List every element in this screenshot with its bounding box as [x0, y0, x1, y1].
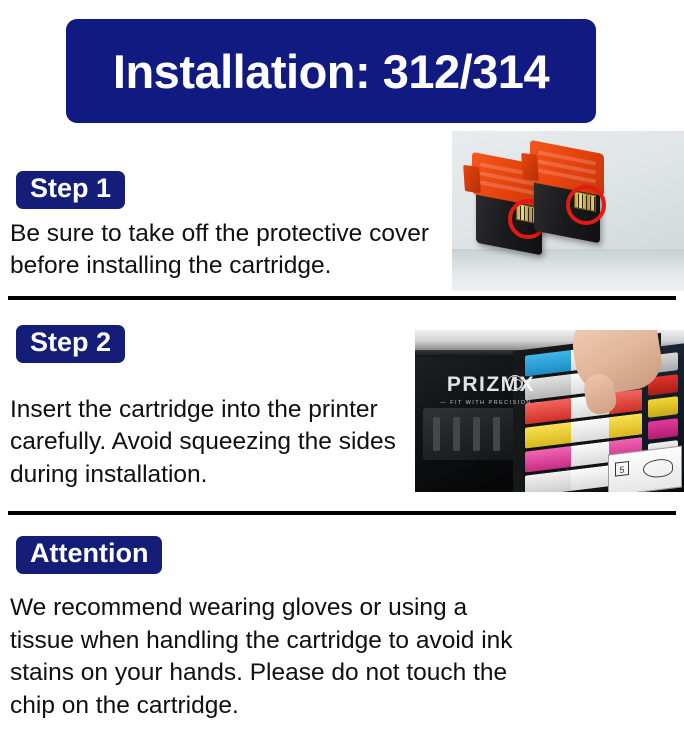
sheet-marker-number: 5 — [615, 461, 629, 477]
section-divider-2 — [8, 511, 676, 515]
printer-mechanism — [423, 408, 515, 460]
step-2-badge-container: Step 2 — [16, 325, 125, 363]
cartridge-left-cover-tab — [463, 165, 481, 193]
attention-badge-container: Attention — [16, 536, 162, 574]
step-1-badge: Step 1 — [16, 171, 125, 209]
chip-highlight-circle-right — [566, 185, 606, 225]
cartridge-right-cover-tab — [521, 153, 539, 181]
title-banner: Installation: 312/314 — [66, 19, 596, 123]
cartridge-right — [530, 145, 608, 245]
step-1-badge-container: Step 1 — [16, 171, 125, 209]
step-1-image-cartridges — [452, 131, 684, 291]
section-divider-1 — [8, 296, 676, 300]
step-2-body-text: Insert the cartridge into the printer ca… — [10, 394, 425, 491]
step-2-badge: Step 2 — [16, 325, 125, 363]
printer-instruction-sheet: 5 — [608, 445, 682, 492]
step-2-image-printer: 5 PRIZMX — FIT WITH PRECISION — — [415, 330, 684, 492]
installation-guide-page: Installation: 312/314 Step 1 Be sure to … — [0, 0, 684, 732]
attention-badge: Attention — [16, 536, 162, 574]
step-1-body-text: Be sure to take off the protective cover… — [10, 218, 450, 283]
attention-body-text: We recommend wearing gloves or using a t… — [10, 592, 520, 722]
sheet-diagram — [643, 458, 673, 480]
page-title: Installation: 312/314 — [113, 44, 549, 99]
